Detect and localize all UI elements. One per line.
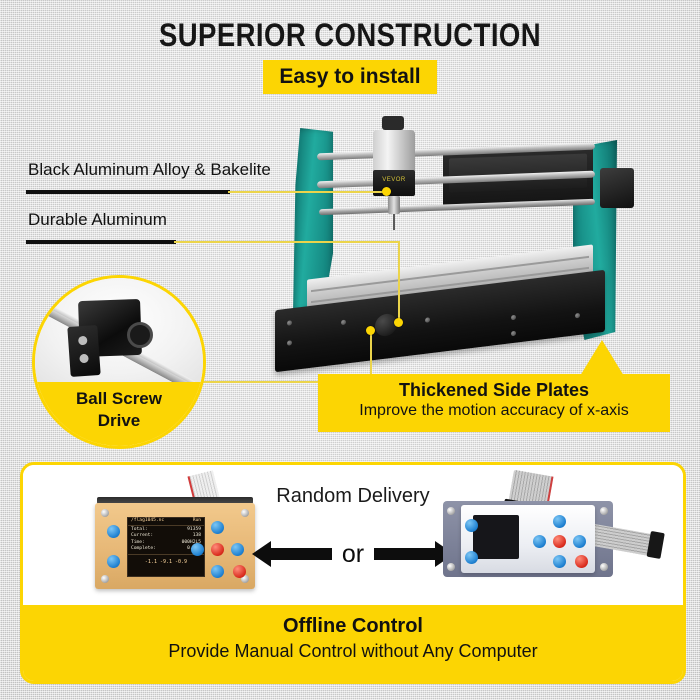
wire-harness <box>405 112 525 182</box>
screen-file-name: /flag1045.nc <box>131 518 164 524</box>
ball-screw-photo <box>35 278 203 382</box>
controller-b-button-blue[interactable] <box>553 555 566 568</box>
stepper-motor <box>600 168 634 208</box>
controller-a-button-blue[interactable] <box>107 525 120 538</box>
controller-a-button-blue[interactable] <box>191 543 204 556</box>
controller-a-button-red[interactable] <box>211 543 224 556</box>
ball-screw-caption-line1: Ball Screw <box>35 382 203 410</box>
ball-screw-caption: Ball Screw Drive <box>35 382 203 446</box>
controller-a-button-red[interactable] <box>233 565 246 578</box>
controller-b-button-blue[interactable] <box>465 551 478 564</box>
controller-a-screw <box>101 575 109 583</box>
controller-b-button-blue[interactable] <box>465 519 478 532</box>
offline-control-panel: Random Delivery /flag1045.nc Run Total:9… <box>20 462 686 684</box>
leader-dot-1 <box>382 187 391 196</box>
controller-b-button-red[interactable] <box>575 555 588 568</box>
offline-controller-a: /flag1045.nc Run Total:91359 Current:138… <box>95 503 255 589</box>
side-plates-heading: Thickened Side Plates <box>318 374 670 401</box>
controller-a-screw <box>101 509 109 517</box>
spindle-body <box>373 130 415 174</box>
ball-screw-callout: Ball Screw Drive <box>32 275 206 449</box>
infographic-root: SUPERIOR CONSTRUCTION Easy to install VE… <box>0 0 700 700</box>
controller-a-button-blue[interactable] <box>107 555 120 568</box>
offline-panel-top: Random Delivery /flag1045.nc Run Total:9… <box>23 465 683 605</box>
label-black-aluminum-alloy: Black Aluminum Alloy & Bakelite <box>28 160 271 180</box>
leader-dot-2 <box>394 318 403 327</box>
spindle-collet <box>388 196 400 214</box>
controller-b-screw <box>600 563 608 571</box>
label-underline-1 <box>26 190 230 194</box>
screen-coordinates: -1.1 -9.1 -0.9 <box>128 554 204 566</box>
mounting-flange <box>67 325 100 377</box>
side-plates-subtext: Improve the motion accuracy of x-axis <box>318 401 670 421</box>
brand-mark: VEVOR <box>373 177 415 183</box>
arrow-right-icon <box>374 548 436 560</box>
label-durable-aluminum: Durable Aluminum <box>28 210 167 230</box>
or-label: or <box>340 540 366 569</box>
leader-line-2-vertical <box>398 241 400 323</box>
subtitle-container: Easy to install <box>0 60 700 94</box>
or-selector: or <box>255 537 451 571</box>
controller-b-screw <box>447 507 455 515</box>
spindle-assembly: VEVOR <box>373 126 415 218</box>
controller-a-screw <box>241 509 249 517</box>
page-title: SUPERIOR CONSTRUCTION <box>49 16 651 54</box>
controller-b-screw <box>600 507 608 515</box>
controller-b-screw <box>447 563 455 571</box>
side-plates-callout: Thickened Side Plates Improve the motion… <box>318 374 670 432</box>
leader-line-1 <box>228 191 388 193</box>
controller-b-button-blue[interactable] <box>553 515 566 528</box>
leader-dot-3 <box>366 326 375 335</box>
side-plates-pointer <box>580 340 624 376</box>
arrow-left-icon <box>270 548 332 560</box>
spindle-cap <box>382 116 404 130</box>
offline-controller-b <box>443 501 613 581</box>
label-underline-2 <box>26 240 176 244</box>
offline-control-heading: Offline Control <box>23 605 683 639</box>
offline-control-subtext: Provide Manual Control without Any Compu… <box>23 639 683 663</box>
controller-a-button-blue[interactable] <box>211 565 224 578</box>
offline-control-caption: Offline Control Provide Manual Control w… <box>23 605 683 681</box>
screen-status: Run <box>193 518 201 524</box>
cutting-bit <box>393 214 395 230</box>
controller-a-button-blue[interactable] <box>211 521 224 534</box>
controller-b-button-blue[interactable] <box>533 535 546 548</box>
controller-b-screen <box>473 515 519 559</box>
controller-b-button-red[interactable] <box>553 535 566 548</box>
screen-row-key: Complete: <box>131 546 156 552</box>
leader-line-2 <box>174 241 400 243</box>
subtitle-badge: Easy to install <box>263 60 436 94</box>
controller-a-button-blue[interactable] <box>231 543 244 556</box>
controller-b-button-blue[interactable] <box>573 535 586 548</box>
bearing-ring <box>127 322 153 348</box>
ball-screw-caption-line2: Drive <box>35 410 203 432</box>
